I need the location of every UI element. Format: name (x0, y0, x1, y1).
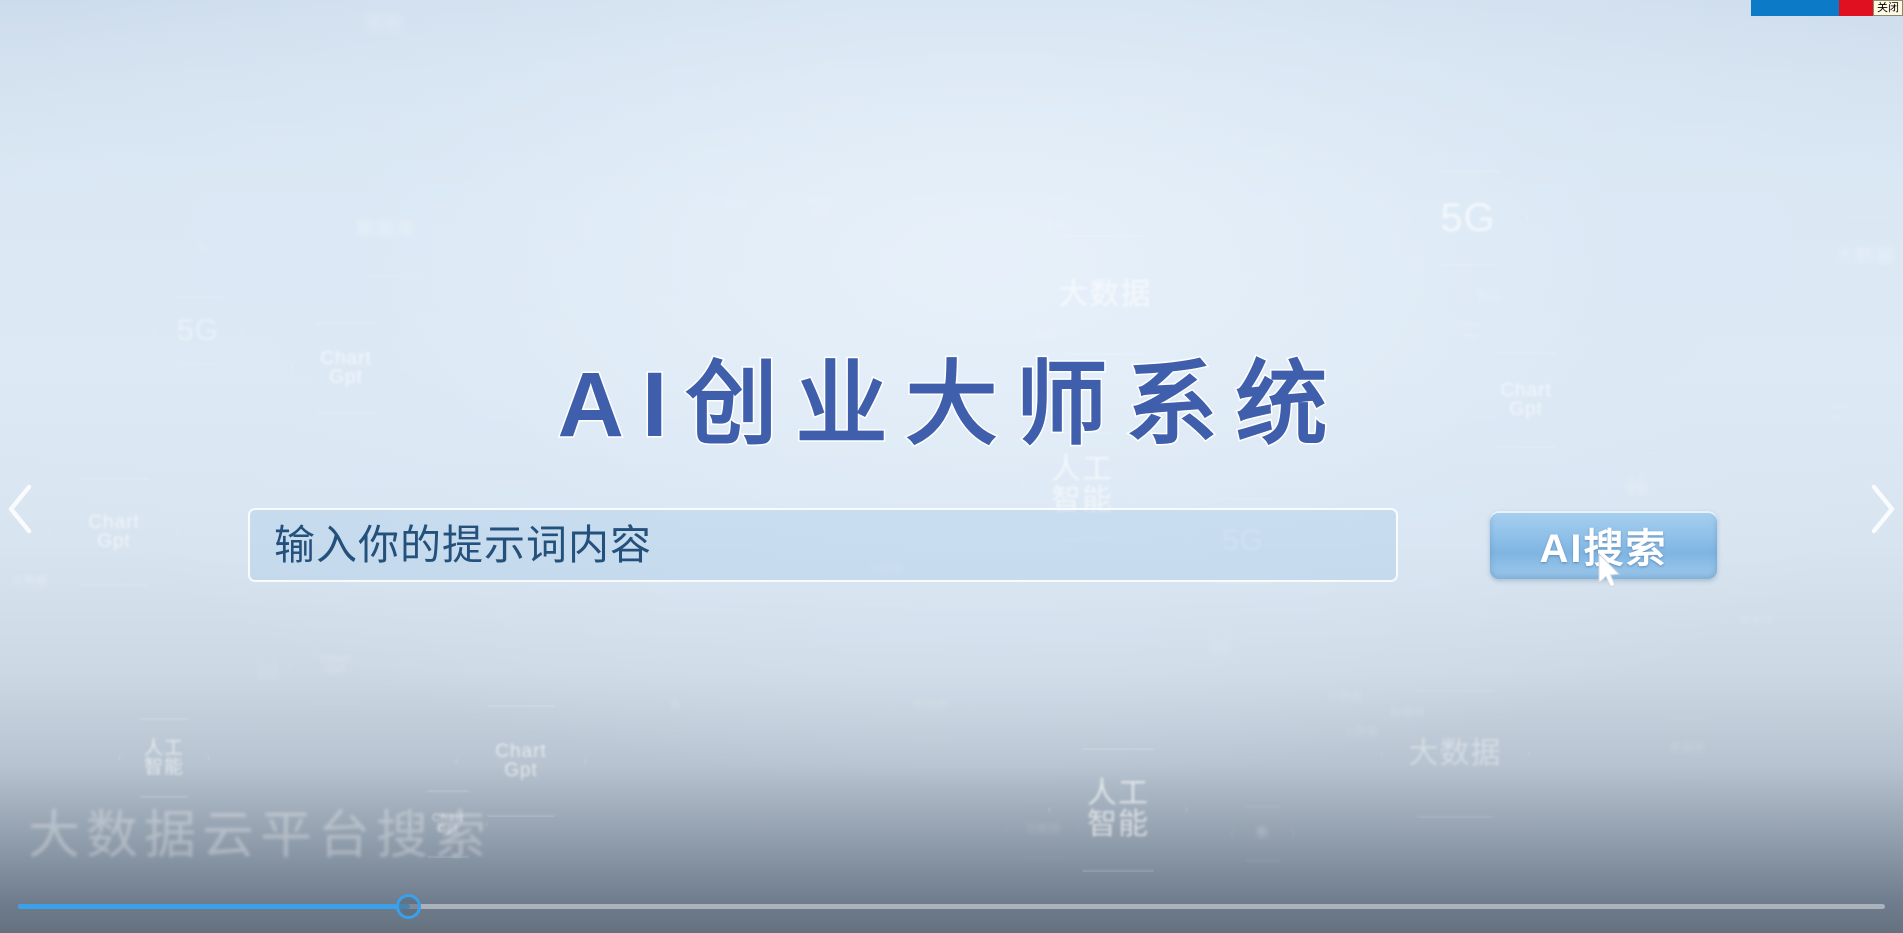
ai-search-button[interactable]: AI搜索 (1490, 511, 1717, 579)
hexagon-watermark: 数据库 (1648, 718, 1728, 780)
page-title: AI创业大师系统 (0, 330, 1903, 463)
hexagon-watermark: 大数据 (1380, 690, 1530, 818)
hexagon-watermark: 人工 智能 (1180, 612, 1262, 680)
hexagon-watermark: 人工 智能 (1020, 188, 1092, 252)
hexagon-watermark: 人工 智能 (1048, 748, 1188, 872)
hexagon-watermark: 人工 智能 (232, 640, 306, 702)
hexagon-watermark: Chart Gpt (455, 705, 587, 817)
hexagon-watermark: 数据库 (1372, 685, 1444, 743)
hexagon-watermark: 大数据 (690, 178, 770, 236)
hexagon-watermark: 数 (172, 225, 234, 273)
hexagon-watermark: Chart Gpt (408, 790, 488, 858)
hexagon-watermark: 人工 智能 (118, 718, 210, 798)
hexagon-watermark: 大数据 (1810, 215, 1903, 299)
background-ghost-text: 大数据云平台搜索 (28, 793, 492, 868)
hexagon-watermark: 互联网 (1005, 800, 1081, 860)
slider-handle[interactable] (396, 894, 421, 919)
window-close-button[interactable] (1839, 0, 1873, 16)
hexagon-watermark: 数据库 (1720, 592, 1794, 650)
chevron-right-icon[interactable] (1865, 483, 1899, 535)
window-controls: 关闭 (1751, 0, 1903, 16)
hexagon-watermark: Chart Gpt (780, 172, 864, 242)
hexagon-watermark: 大数据 (1312, 672, 1378, 724)
chevron-left-icon[interactable] (4, 483, 38, 535)
hexagon-watermark: 数 (645, 680, 707, 732)
background-hexagon-watermarks: 智能数据库数5GChart GptChart Gpt大数据大数据Chart Gp… (0, 0, 1903, 933)
hexagon-watermark: 大数据 (1312, 695, 1410, 771)
hexagon-watermark: 数 (1230, 805, 1296, 863)
search-box[interactable] (248, 508, 1398, 582)
hexagon-watermark: 5G (1408, 170, 1528, 266)
hexagon-watermark: Chart Gpt (288, 625, 384, 705)
hexagon-watermark: 智能 (330, 0, 440, 64)
app-root: 智能数据库数5GChart GptChart Gpt大数据大数据Chart Gp… (0, 0, 1903, 933)
hexagon-watermark: 数据库 (322, 182, 450, 278)
close-tooltip: 关闭 (1873, 0, 1903, 16)
slider-fill (18, 904, 410, 909)
search-input[interactable] (272, 509, 1374, 581)
hexagon-watermark: 数据库 (888, 673, 974, 739)
hexagon-watermark: 5G (1452, 268, 1526, 326)
playback-slider[interactable] (0, 893, 1903, 919)
window-titlebar-fragment (1751, 0, 1839, 16)
search-row: AI搜索 (0, 508, 1903, 586)
